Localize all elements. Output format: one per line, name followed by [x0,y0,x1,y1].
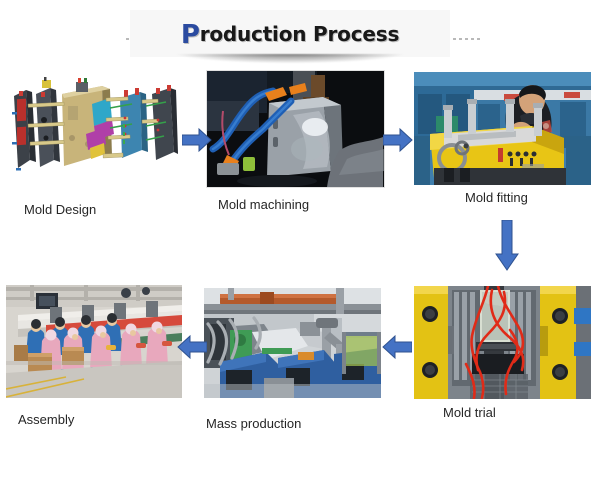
production-process-infographic: Production Process [0,0,600,501]
step-image-mold-trial [414,286,591,399]
step-label-mold-design: Mold Design [24,202,96,217]
step-image-mass-production [204,288,381,398]
step-label-mold-machining: Mold machining [218,197,309,212]
arrow-machining-to-fitting [383,127,413,153]
step-label-mass-production: Mass production [206,416,301,431]
step-label-mold-trial: Mold trial [443,405,496,420]
step-label-assembly: Assembly [18,412,74,427]
title-remainder: roduction Process [200,22,399,46]
arrow-mass-to-assembly [177,334,207,360]
arrow-fitting-to-trial [494,220,520,272]
title-banner: Production Process [130,10,450,57]
step-image-mold-machining [206,70,385,188]
title-initial-cap: P [181,20,200,50]
page-title: Production Process [181,22,399,46]
step-image-mold-fitting [414,72,591,185]
step-label-mold-fitting: Mold fitting [465,190,528,205]
dashed-line-right [447,38,481,40]
step-image-assembly [6,285,182,398]
step-image-mold-design [6,68,182,188]
banner-shadow [134,54,446,65]
arrow-design-to-machining [182,127,212,153]
arrow-trial-to-mass [382,334,412,360]
